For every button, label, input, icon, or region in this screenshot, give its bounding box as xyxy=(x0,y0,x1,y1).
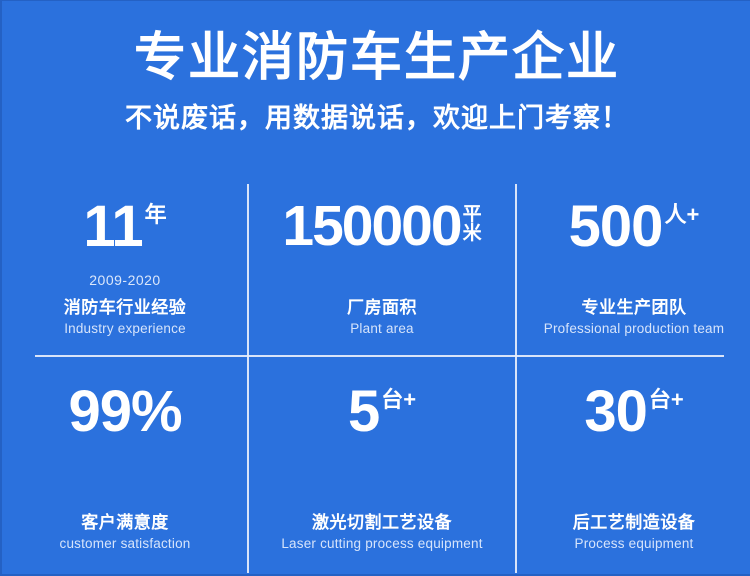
stat-range: 2009-2020 xyxy=(64,272,187,288)
stat-caption: 客户满意度 customer satisfaction xyxy=(60,508,191,576)
stat-label-cn: 后工艺制造设备 xyxy=(573,508,696,533)
stat-cell-customer-satisfaction: 99% 客户满意度 customer satisfaction xyxy=(2,356,248,576)
stat-label-en: Professional production team xyxy=(544,321,724,336)
page-title: 专业消防车生产企业 xyxy=(2,27,750,89)
stat-label-cn: 厂房面积 xyxy=(347,293,417,318)
stat-label-en: Laser cutting process equipment xyxy=(281,536,482,551)
stat-label-cn: 激光切割工艺设备 xyxy=(281,508,482,533)
stat-unit: 人+ xyxy=(664,204,699,226)
stat-value: 11 xyxy=(83,199,142,254)
stat-value-row: 99% xyxy=(68,384,181,439)
stat-label-en: Plant area xyxy=(347,321,417,336)
stat-label-en: customer satisfaction xyxy=(60,536,191,551)
stat-value-row: 11 年 xyxy=(83,199,166,254)
stat-label-cn: 专业生产团队 xyxy=(544,293,724,318)
stat-cell-laser-cutting-equipment: 5 台+ 激光切割工艺设备 Laser cutting process equi… xyxy=(248,356,516,576)
stat-value: 500 xyxy=(569,199,663,254)
stat-caption: 后工艺制造设备 Process equipment xyxy=(573,508,696,576)
stat-value-row: 150000 平 米 xyxy=(282,199,481,253)
stat-label-cn: 客户满意度 xyxy=(60,508,191,533)
grid-divider-vertical-2 xyxy=(515,184,517,573)
stat-caption: 2009-2020 消防车行业经验 Industry experience xyxy=(64,272,187,356)
stat-value: 99% xyxy=(68,384,181,439)
page-subtitle: 不说废话，用数据说话，欢迎上门考察！ xyxy=(2,101,750,135)
stat-unit: 平 米 xyxy=(463,205,482,244)
stat-caption: 激光切割工艺设备 Laser cutting process equipment xyxy=(281,508,482,576)
grid-divider-horizontal xyxy=(35,355,724,357)
stat-value: 150000 xyxy=(282,199,460,253)
stat-value: 5 xyxy=(348,384,379,439)
stat-unit-char-1: 平 xyxy=(463,205,482,224)
stat-cell-process-equipment: 30 台+ 后工艺制造设备 Process equipment xyxy=(516,356,750,576)
stat-unit: 台+ xyxy=(381,389,416,411)
stat-label-en: Industry experience xyxy=(64,321,187,336)
stat-caption: 专业生产团队 Professional production team xyxy=(544,293,724,356)
stats-grid: 11 年 2009-2020 消防车行业经验 Industry experien… xyxy=(2,177,750,576)
stat-unit-char-2: 米 xyxy=(463,224,482,243)
promo-banner: 专业消防车生产企业 不说废话，用数据说话，欢迎上门考察！ 11 年 2009-2… xyxy=(0,0,750,576)
stat-caption: 厂房面积 Plant area xyxy=(347,293,417,356)
stat-cell-plant-area: 150000 平 米 厂房面积 Plant area xyxy=(248,177,516,356)
stat-unit: 年 xyxy=(145,204,167,226)
stat-unit: 台+ xyxy=(649,389,684,411)
stat-value-row: 500 人+ xyxy=(569,199,700,254)
stat-label-cn: 消防车行业经验 xyxy=(64,293,187,318)
stat-cell-industry-experience: 11 年 2009-2020 消防车行业经验 Industry experien… xyxy=(2,177,248,356)
grid-divider-vertical-1 xyxy=(247,184,249,573)
stat-value-row: 5 台+ xyxy=(348,384,416,439)
stat-cell-production-team: 500 人+ 专业生产团队 Professional production te… xyxy=(516,177,750,356)
stat-label-en: Process equipment xyxy=(573,536,696,551)
stat-value-row: 30 台+ xyxy=(584,384,683,439)
stat-value: 30 xyxy=(584,384,647,439)
banner-header: 专业消防车生产企业 不说废话，用数据说话，欢迎上门考察！ xyxy=(2,1,750,135)
